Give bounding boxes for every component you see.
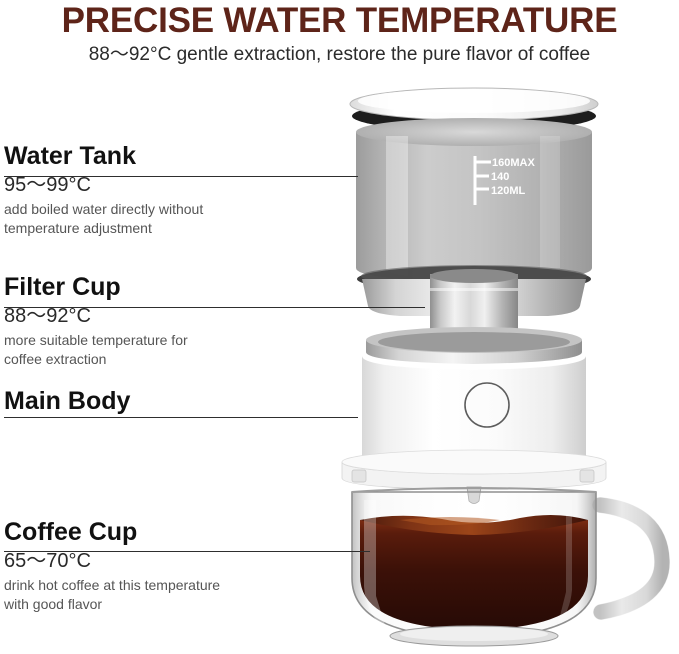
label-block-filter-cup: Filter Cup 88～92°C more suitable tempera…: [4, 274, 188, 369]
label-heading-main-body: Main Body: [4, 388, 130, 415]
main-body-collar-inner: [378, 332, 570, 352]
flange-clip-left: [352, 470, 366, 482]
coffee-cup-part: [352, 488, 662, 646]
flange-top: [342, 450, 606, 474]
label-temp-water-tank: 95～99°C: [4, 170, 203, 198]
leader-line-main-body: [4, 417, 358, 418]
label-block-water-tank: Water Tank 95～99°C add boiled water dire…: [4, 143, 203, 238]
mark-label-120ml: 120ML: [491, 185, 526, 197]
filter-cup-top-rim: [430, 269, 518, 283]
label-heading-water-tank: Water Tank: [4, 143, 203, 170]
label-block-coffee-cup: Coffee Cup 65～70°C drink hot coffee at t…: [4, 519, 220, 614]
filter-cup-highlight: [430, 288, 518, 291]
cup-handle-outline: [600, 505, 662, 612]
label-heading-coffee-cup: Coffee Cup: [4, 519, 220, 546]
label-temp-coffee-cup: 65～70°C: [4, 546, 220, 574]
main-body-part: [342, 327, 606, 504]
label-desc-filter-cup: more suitable temperature for coffee ext…: [4, 329, 188, 369]
header: PRECISE WATER TEMPERATURE 88～92°C gentle…: [0, 0, 679, 67]
tank-gloss-left: [386, 136, 408, 276]
power-button-face: [467, 385, 507, 425]
label-desc-water-tank: add boiled water directly without temper…: [4, 198, 203, 238]
flange-clip-right: [580, 470, 594, 482]
label-desc-coffee-cup: drink hot coffee at this temperature wit…: [4, 574, 220, 614]
label-temp-filter-cup: 88～92°C: [4, 301, 188, 329]
label-heading-filter-cup: Filter Cup: [4, 274, 188, 301]
tank-gloss-right: [540, 136, 560, 272]
mark-label-160max: 160MAX: [492, 157, 535, 169]
cup-base-inner: [400, 627, 548, 641]
page-title: PRECISE WATER TEMPERATURE: [0, 0, 679, 39]
mark-label-140: 140: [491, 171, 509, 183]
coffee-liquid: [360, 520, 588, 630]
label-block-main-body: Main Body: [4, 388, 130, 415]
infographic-canvas: 160MAX 140 120ML: [0, 0, 679, 654]
page-subtitle: 88～92°C gentle extraction, restore the p…: [0, 39, 679, 67]
lid-highlight: [358, 89, 590, 113]
